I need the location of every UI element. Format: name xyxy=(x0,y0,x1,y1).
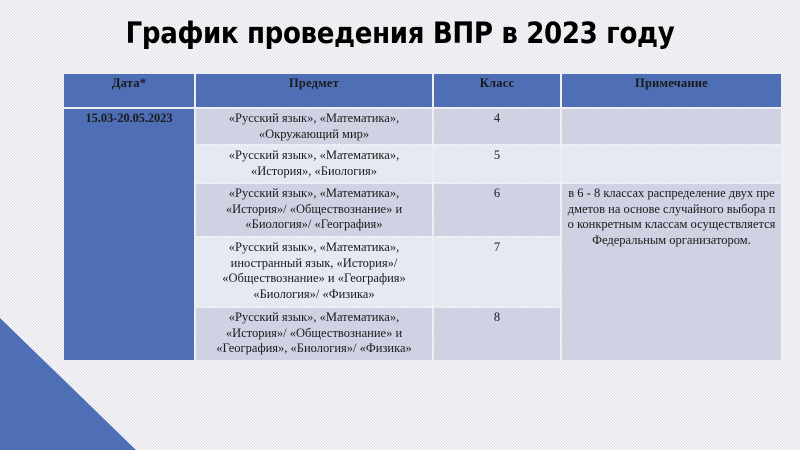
column-header-subject: Предмет xyxy=(196,74,432,107)
cell-note-grade-4 xyxy=(562,109,781,144)
table-header-row: Дата* Предмет Класс Примечание xyxy=(64,74,781,107)
slide-canvas: График проведения ВПР в 2023 году Дата* … xyxy=(0,0,800,450)
cell-note-merged-grades-6-8: в 6 - 8 классах распределение двух предм… xyxy=(562,184,781,360)
cell-note-grade-5 xyxy=(562,146,781,182)
schedule-table: Дата* Предмет Класс Примечание 15.03-20.… xyxy=(62,72,783,362)
cell-subject-grade-5: «Русский язык», «Математика», «История»,… xyxy=(196,146,432,182)
cell-subject-grade-7: «Русский язык», «Математика», иностранны… xyxy=(196,238,432,306)
table-row: 15.03-20.05.2023 «Русский язык», «Матема… xyxy=(64,109,781,144)
cell-subject-grade-4: «Русский язык», «Математика», «Окружающи… xyxy=(196,109,432,144)
cell-subject-grade-6: «Русский язык», «Математика», «История»/… xyxy=(196,184,432,236)
column-header-klass: Класс xyxy=(434,74,560,107)
cell-klass-grade-4: 4 xyxy=(434,109,560,144)
cell-klass-grade-8: 8 xyxy=(434,308,560,360)
cell-date-merged: 15.03-20.05.2023 xyxy=(64,109,194,360)
cell-klass-grade-5: 5 xyxy=(434,146,560,182)
column-header-date: Дата* xyxy=(64,74,194,107)
cell-subject-grade-8: «Русский язык», «Математика», «История»/… xyxy=(196,308,432,360)
page-title: График проведения ВПР в 2023 году xyxy=(40,14,760,52)
cell-klass-grade-6: 6 xyxy=(434,184,560,236)
schedule-table-container: Дата* Предмет Класс Примечание 15.03-20.… xyxy=(62,72,775,362)
cell-klass-grade-7: 7 xyxy=(434,238,560,306)
column-header-note: Примечание xyxy=(562,74,781,107)
